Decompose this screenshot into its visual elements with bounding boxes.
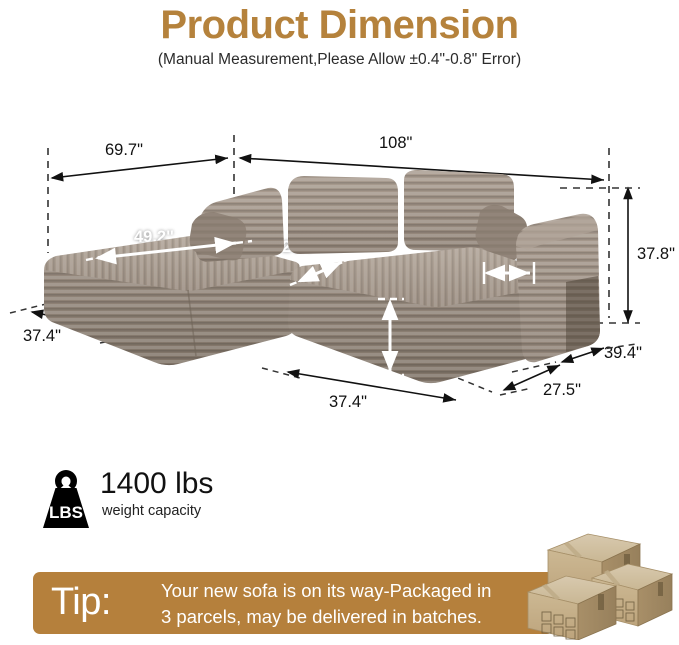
- infographic-canvas: Product Dimension (Manual Measurement,Pl…: [0, 0, 679, 645]
- dimension-lines-front: [0, 0, 679, 645]
